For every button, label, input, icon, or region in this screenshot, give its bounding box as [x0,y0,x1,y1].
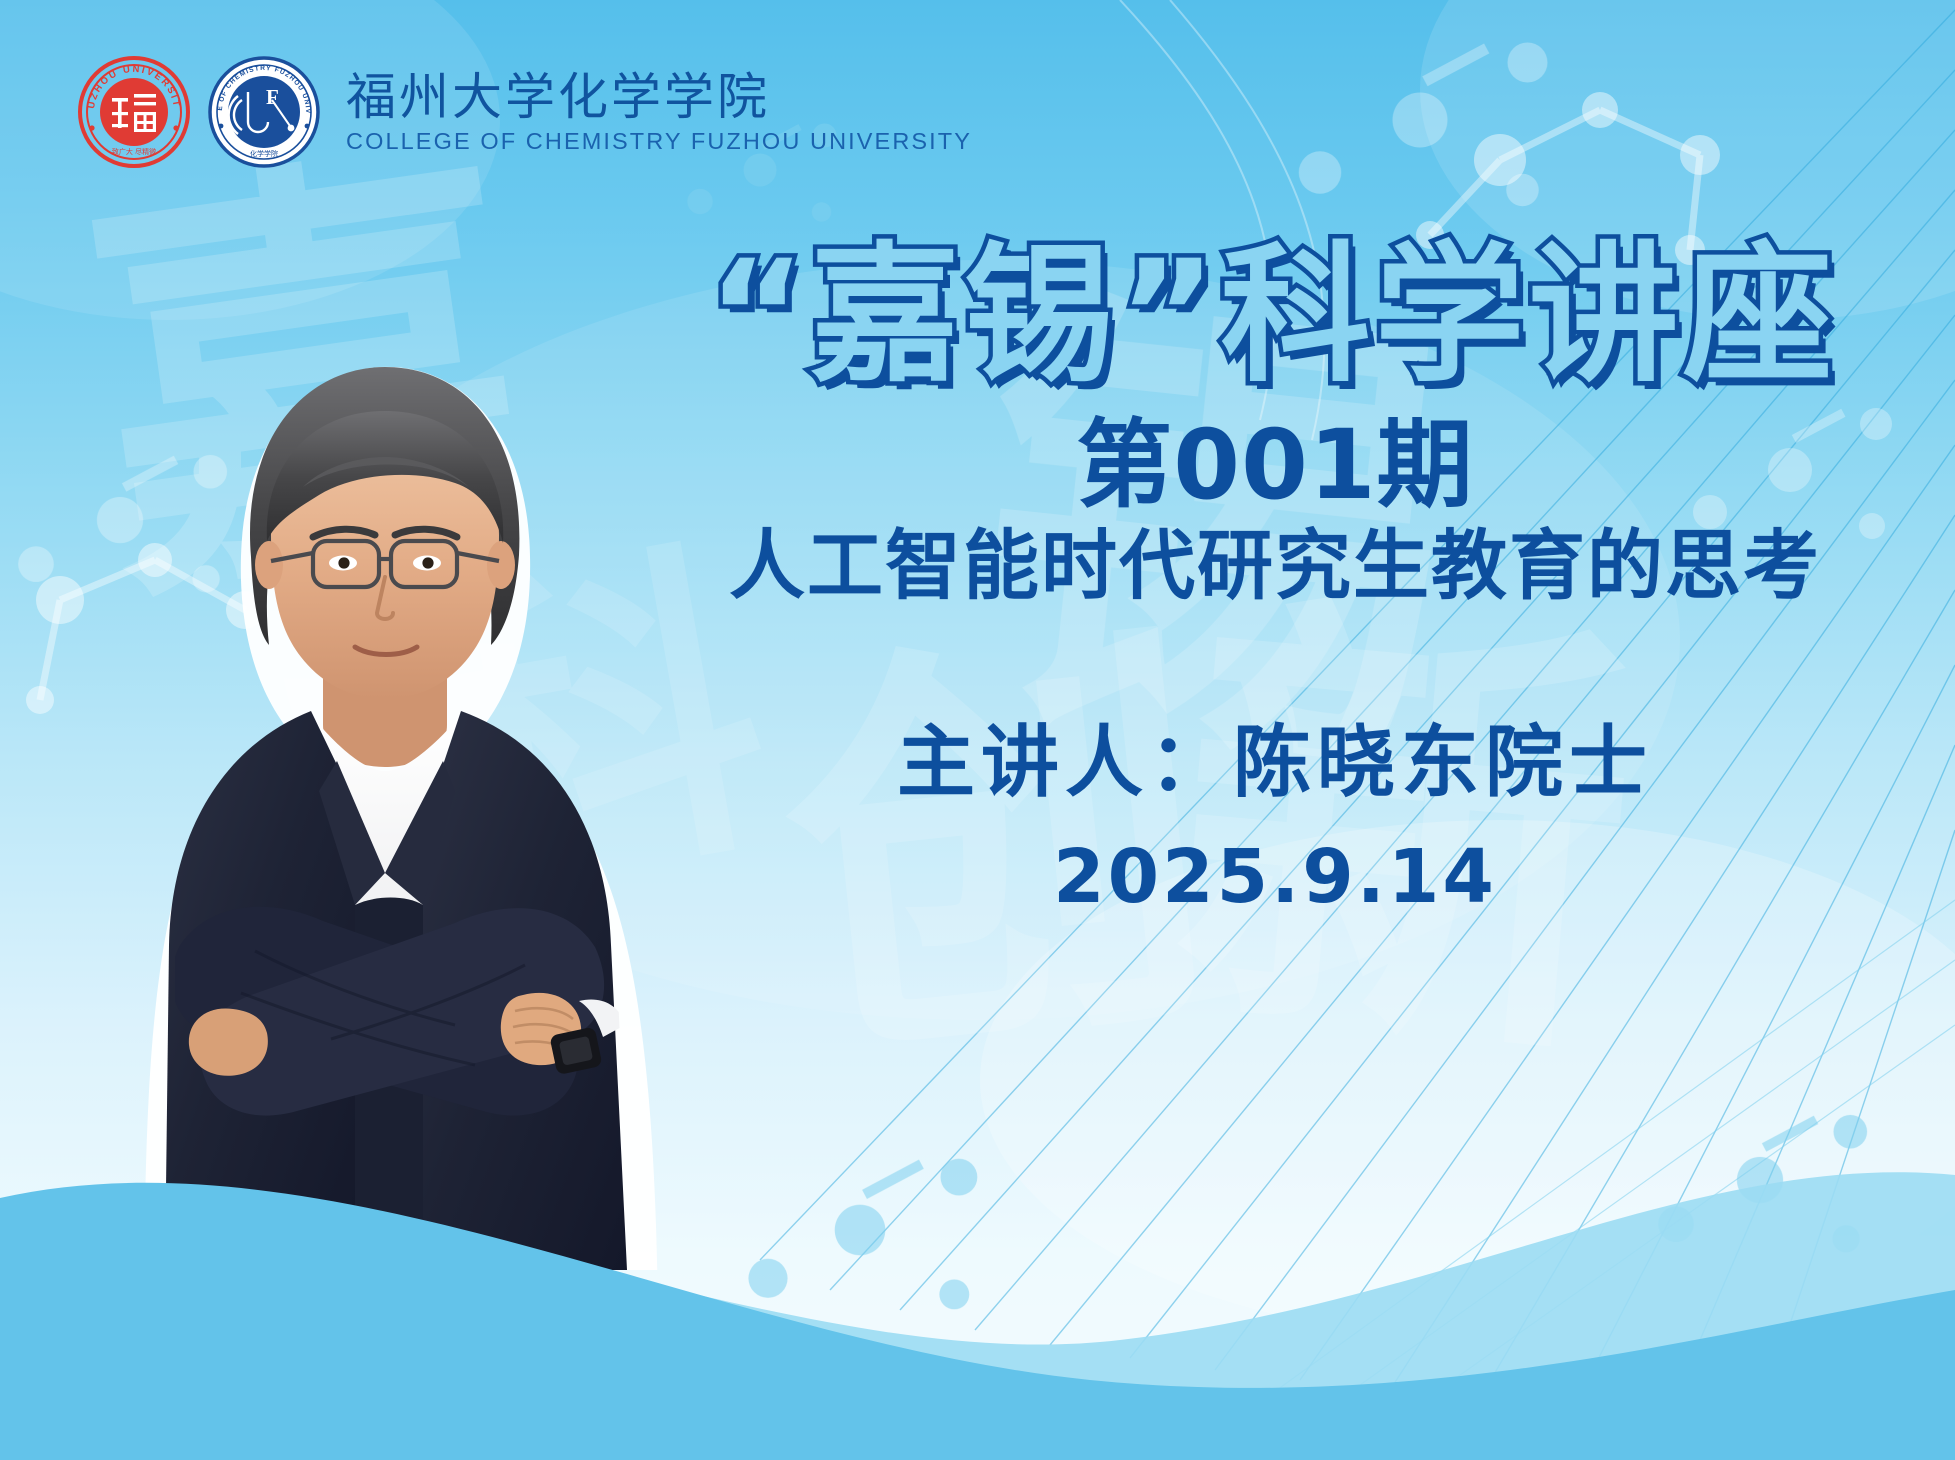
svg-text:致广大 尽精微: 致广大 尽精微 [112,147,156,156]
lecture-poster: 嘉 锡 创 新 科 FUZHOU UNIVERSITY [0,0,1955,1460]
header-text-block: 福州大学化学学院 COLLEGE OF CHEMISTRY FUZHOU UNI… [346,70,972,155]
fuzhou-university-seal-icon: FUZHOU UNIVERSITY [78,56,190,168]
lecture-series-title: “嘉锡”科学讲座 [634,240,1910,393]
svg-text:化学学院: 化学学院 [250,149,278,158]
issue-number: 第001期 [640,415,1910,516]
speaker-name: 主讲人：陈晓东院士 [640,717,1910,811]
header-title-en: COLLEGE OF CHEMISTRY FUZHOU UNIVERSITY [346,128,972,155]
main-content: “嘉锡”科学讲座 第001期 人工智能时代研究生教育的思考 主讲人：陈晓东院士 … [640,240,1910,922]
lecture-date: 2025.9.14 [640,833,1910,922]
header-title-cn: 福州大学化学学院 [346,70,972,124]
header: FUZHOU UNIVERSITY [78,56,972,168]
college-of-chemistry-seal-icon: COLLEGE OF CHEMISTRY FUZHOU UNIVERSITY F… [208,56,320,168]
lecture-topic: 人工智能时代研究生教育的思考 [640,522,1910,609]
bottom-wave-decoration [0,1080,1955,1460]
